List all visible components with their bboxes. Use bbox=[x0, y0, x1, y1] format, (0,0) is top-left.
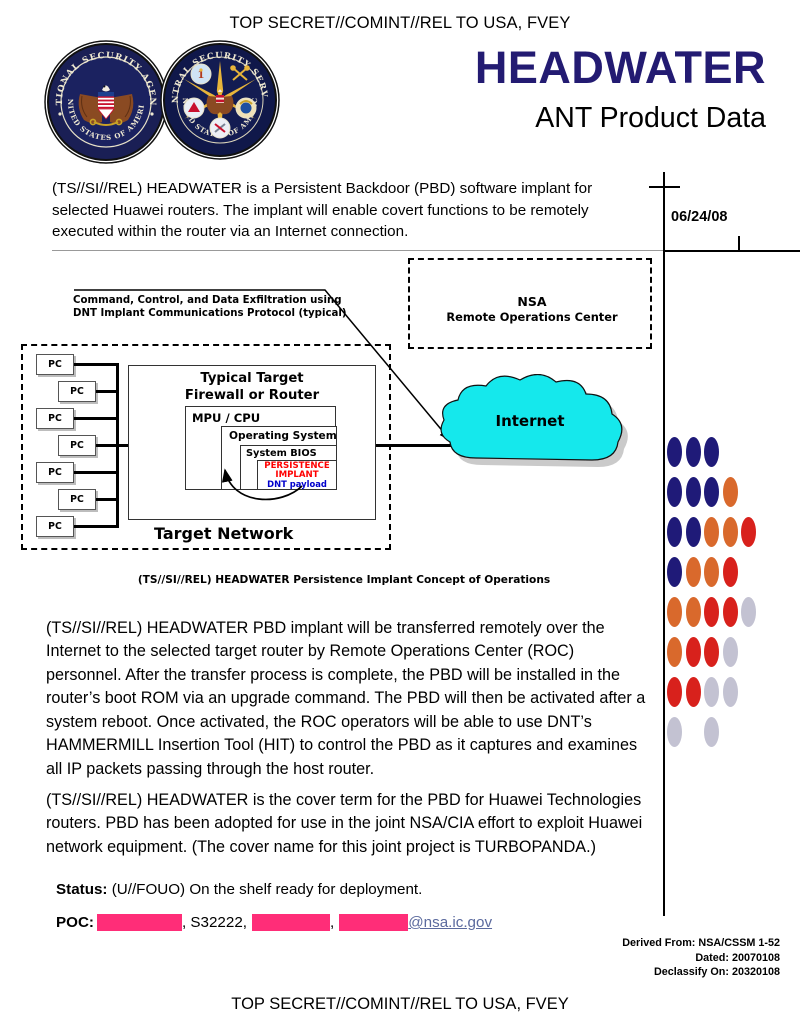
bead-orange bbox=[667, 637, 682, 667]
bead-navy bbox=[667, 477, 682, 507]
bead-orange bbox=[667, 597, 682, 627]
page-title: HEADWATER bbox=[475, 45, 766, 90]
status-line: Status: (U//FOUO) On the shelf ready for… bbox=[56, 881, 422, 898]
body-paragraph-2: (TS//SI//REL) HEADWATER is the cover ter… bbox=[46, 789, 646, 859]
internet-cloud: Internet bbox=[434, 374, 664, 509]
bead-red bbox=[686, 637, 701, 667]
poc-label: POC: bbox=[56, 914, 94, 931]
bead-navy bbox=[704, 437, 719, 467]
bead-gray bbox=[704, 717, 719, 747]
status-label: Status: bbox=[56, 881, 107, 898]
bead-orange bbox=[723, 517, 738, 547]
diagram-caption: (TS//SI//REL) HEADWATER Persistence Impl… bbox=[14, 574, 674, 586]
bead-navy bbox=[686, 477, 701, 507]
document-page: TOP SECRET//COMINT//REL TO USA, FVEY NAT… bbox=[0, 0, 800, 1035]
bead-red bbox=[704, 637, 719, 667]
bead-navy bbox=[667, 437, 682, 467]
nsa-seal-icon: NATIONAL SECURITY AGENCY UNITED STATES O… bbox=[44, 40, 168, 164]
page-subtitle: ANT Product Data bbox=[535, 104, 766, 133]
bead-navy bbox=[667, 517, 682, 547]
redaction-bar-phone bbox=[252, 914, 330, 931]
bead-navy bbox=[686, 517, 701, 547]
body-paragraph-1: (TS//SI//REL) HEADWATER PBD implant will… bbox=[46, 617, 646, 781]
bead-gray bbox=[723, 637, 738, 667]
declassify-on-line: Declassify On: 20320108 bbox=[622, 965, 780, 980]
top-classification-banner: TOP SECRET//COMINT//REL TO USA, FVEY bbox=[0, 14, 800, 33]
poc-comma: , bbox=[330, 914, 334, 931]
bead-orange bbox=[686, 597, 701, 627]
decorative-bead-grid bbox=[667, 437, 787, 767]
bead-red bbox=[723, 557, 738, 587]
rule-tick-top bbox=[649, 186, 680, 188]
rule-tick-vertical-stub bbox=[738, 236, 740, 252]
bead-gray bbox=[704, 677, 719, 707]
poc-org: , S32222, bbox=[182, 914, 247, 931]
css-seal-icon: CENTRAL SECURITY SERVICE UNITED STATES O… bbox=[160, 40, 280, 160]
bead-gray bbox=[741, 597, 756, 627]
bead-red bbox=[723, 597, 738, 627]
derived-from-block: Derived From: NSA/CSSM 1-52 Dated: 20070… bbox=[622, 936, 780, 980]
intro-paragraph: (TS//SI//REL) HEADWATER is a Persistent … bbox=[52, 178, 627, 243]
bead-navy bbox=[686, 437, 701, 467]
bead-orange bbox=[704, 557, 719, 587]
svg-text:1: 1 bbox=[198, 70, 205, 81]
bead-red bbox=[704, 597, 719, 627]
dated-line: Dated: 20070108 bbox=[622, 951, 780, 966]
bead-gray bbox=[667, 717, 682, 747]
bottom-classification-banner: TOP SECRET//COMINT//REL TO USA, FVEY bbox=[0, 995, 800, 1014]
redaction-bar-email bbox=[339, 914, 408, 931]
bead-red bbox=[686, 677, 701, 707]
bead-red bbox=[667, 677, 682, 707]
poc-line: POC: , S32222, , @nsa.ic.gov bbox=[56, 914, 492, 931]
bead-gray bbox=[723, 677, 738, 707]
derived-from-line: Derived From: NSA/CSSM 1-52 bbox=[622, 936, 780, 951]
concept-of-operations-diagram: Command, Control, and Data Exfiltration … bbox=[14, 258, 674, 568]
redaction-bar-name bbox=[97, 914, 182, 931]
bead-navy bbox=[704, 477, 719, 507]
bead-orange bbox=[704, 517, 719, 547]
bead-navy bbox=[667, 557, 682, 587]
document-date: 06/24/08 bbox=[671, 209, 727, 225]
intro-divider bbox=[52, 250, 663, 251]
bead-red bbox=[741, 517, 756, 547]
status-text: (U//FOUO) On the shelf ready for deploym… bbox=[112, 881, 423, 898]
poc-email-link[interactable]: @nsa.ic.gov bbox=[408, 914, 492, 931]
internet-cloud-label: Internet bbox=[495, 412, 564, 430]
bead-orange bbox=[723, 477, 738, 507]
rule-tick-middle bbox=[663, 250, 800, 252]
bead-orange bbox=[686, 557, 701, 587]
